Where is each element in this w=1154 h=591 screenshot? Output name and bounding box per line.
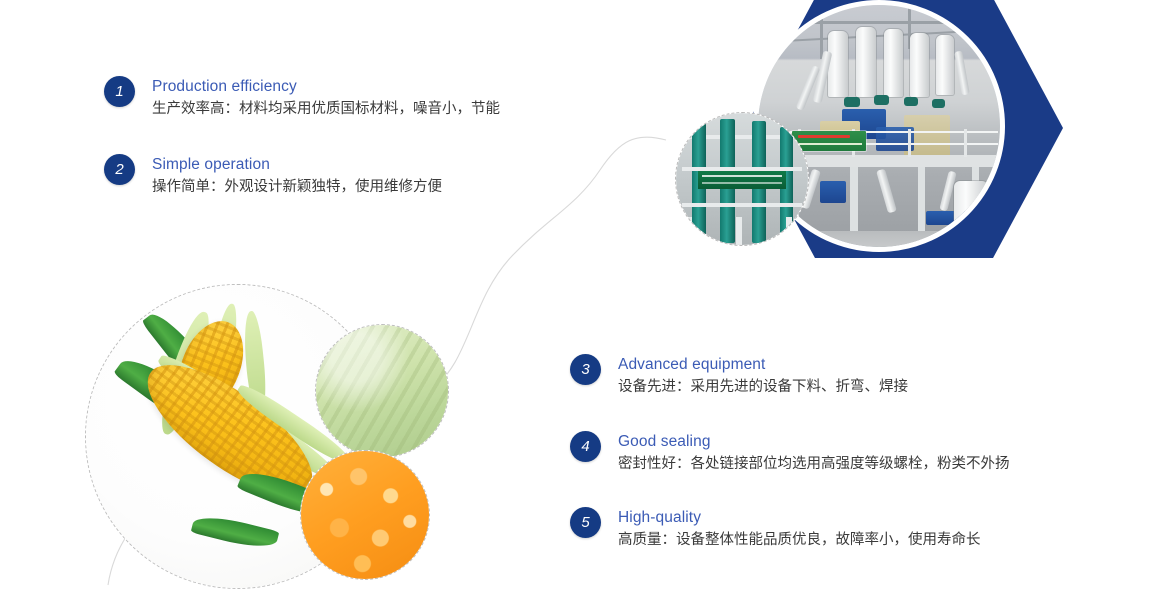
feature-number-badge: 1	[104, 76, 135, 107]
feature-item-1[interactable]: 1 Production efficiency 生产效率高：材料均采用优质国标材…	[104, 76, 500, 120]
orange-corn-grits-photo	[300, 450, 430, 580]
feature-item-4[interactable]: 4 Good sealing 密封性好：各处链接部位均选用高强度等级螺栓，粉类不…	[570, 431, 1010, 475]
feature-description: 密封性好：各处链接部位均选用高强度等级螺栓，粉类不外扬	[618, 453, 1010, 475]
green-mill-machinery-photo	[675, 112, 809, 246]
feature-title: Good sealing	[618, 432, 1010, 451]
feature-title: Production efficiency	[152, 77, 500, 96]
feature-item-5[interactable]: 5 High-quality 高质量：设备整体性能品质优良，故障率小，使用寿命长	[570, 507, 981, 551]
feature-number-badge: 3	[570, 354, 601, 385]
feature-description: 设备先进：采用先进的设备下料、折弯、焊接	[618, 376, 908, 398]
feature-item-3[interactable]: 3 Advanced equipment 设备先进：采用先进的设备下料、折弯、焊…	[570, 354, 908, 398]
mill-photo-group	[745, 0, 1065, 260]
feature-description: 操作简单：外观设计新颖独特，使用维修方便	[152, 176, 442, 198]
feature-title: Simple operation	[152, 155, 442, 174]
feature-description: 高质量：设备整体性能品质优良，故障率小，使用寿命长	[618, 529, 981, 551]
feature-number-badge: 5	[570, 507, 601, 538]
feature-number-badge: 4	[570, 431, 601, 462]
feature-showcase-panel: 1 Production efficiency 生产效率高：材料均采用优质国标材…	[0, 0, 1154, 591]
feature-description: 生产效率高：材料均采用优质国标材料，噪音小，节能	[152, 98, 500, 120]
green-corn-flour-photo	[315, 324, 449, 458]
feature-item-2[interactable]: 2 Simple operation 操作简单：外观设计新颖独特，使用维修方便	[104, 154, 442, 198]
feature-number-badge: 2	[104, 154, 135, 185]
feature-title: High-quality	[618, 508, 981, 527]
corn-photo-group	[85, 282, 465, 591]
feature-title: Advanced equipment	[618, 355, 908, 374]
